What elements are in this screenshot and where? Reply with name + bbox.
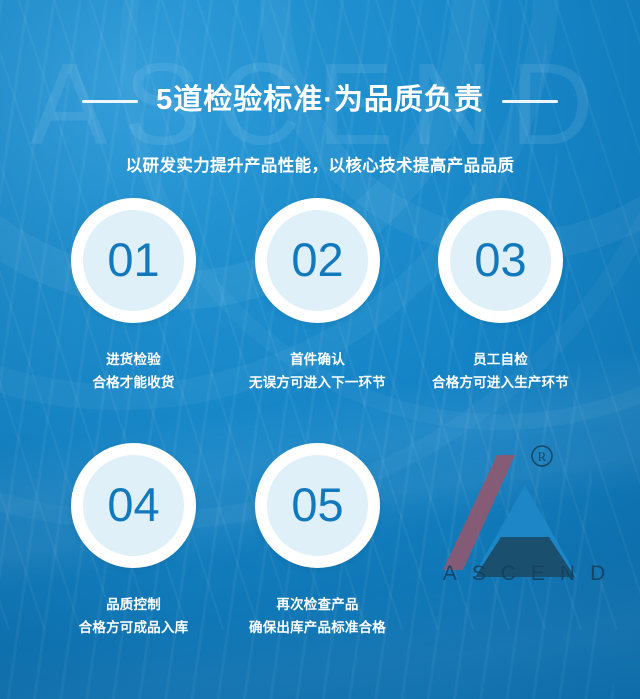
poster-root: ASCEND 5道检验标准·为品质负责 以研发实力提升产品性能，以核心技术提高产… [0,0,640,699]
step-caption-line-2: 合格方可成品入库 [42,616,225,639]
step-badge-inner: 04 [83,455,184,556]
header: 5道检验标准·为品质负责 以研发实力提升产品性能，以核心技术提高产品品质 [0,66,640,176]
step-number: 03 [474,236,526,283]
step-item: 05 再次检查产品 确保出库产品标准合格 [226,435,409,639]
step-badge: 02 [255,198,380,323]
step-badge-inner: 03 [450,210,551,311]
step-number: 01 [107,236,159,283]
step-item: 03 员工自检 合格方可进入生产环节 [409,190,592,394]
step-caption: 进货检验 合格才能收货 [42,348,225,394]
step-badge-inner: 02 [267,210,368,311]
step-caption-line-1: 进货检验 [42,348,225,371]
title-row: 5道检验标准·为品质负责 [0,66,640,137]
brand-logo: R ASCEND [415,440,630,600]
step-caption-line-2: 确保出库产品标准合格 [226,616,409,639]
step-number: 02 [291,236,343,283]
title-rule-left-icon [82,100,138,103]
step-item: 01 进货检验 合格才能收货 [42,190,225,394]
step-badge: 01 [71,198,196,323]
step-caption-line-2: 无误方可进入下一环节 [226,371,409,394]
step-item: 02 首件确认 无误方可进入下一环节 [226,190,409,394]
step-caption-line-2: 合格才能收货 [42,371,225,394]
step-badge-inner: 05 [267,455,368,556]
steps-section: 01 进货检验 合格才能收货 02 首件确认 无误方可进入下一环节 [0,190,640,680]
step-caption-line-1: 再次检查产品 [226,593,409,616]
step-caption: 员工自检 合格方可进入生产环节 [409,348,592,394]
step-caption-line-1: 品质控制 [42,593,225,616]
page-subtitle: 以研发实力提升产品性能，以核心技术提高产品品质 [0,152,640,176]
step-item: 04 品质控制 合格方可成品入库 [42,435,225,639]
step-number: 04 [107,481,159,528]
step-caption: 再次检查产品 确保出库产品标准合格 [226,593,409,639]
step-caption-line-1: 首件确认 [226,348,409,371]
step-caption-line-2: 合格方可进入生产环节 [409,371,592,394]
page-title: 5道检验标准·为品质负责 [156,85,484,117]
svg-text:R: R [538,449,547,464]
step-caption-line-1: 员工自检 [409,348,592,371]
step-badge: 05 [255,443,380,568]
step-caption: 首件确认 无误方可进入下一环节 [226,348,409,394]
logo-wordmark: ASCEND [419,562,629,586]
registered-mark-icon: R [532,446,552,466]
step-number: 05 [291,481,343,528]
step-badge-inner: 01 [83,210,184,311]
step-badge: 03 [438,198,563,323]
step-caption: 品质控制 合格方可成品入库 [42,593,225,639]
steps-row-one: 01 进货检验 合格才能收货 02 首件确认 无误方可进入下一环节 [0,190,640,435]
step-badge: 04 [71,443,196,568]
title-rule-right-icon [502,100,558,103]
